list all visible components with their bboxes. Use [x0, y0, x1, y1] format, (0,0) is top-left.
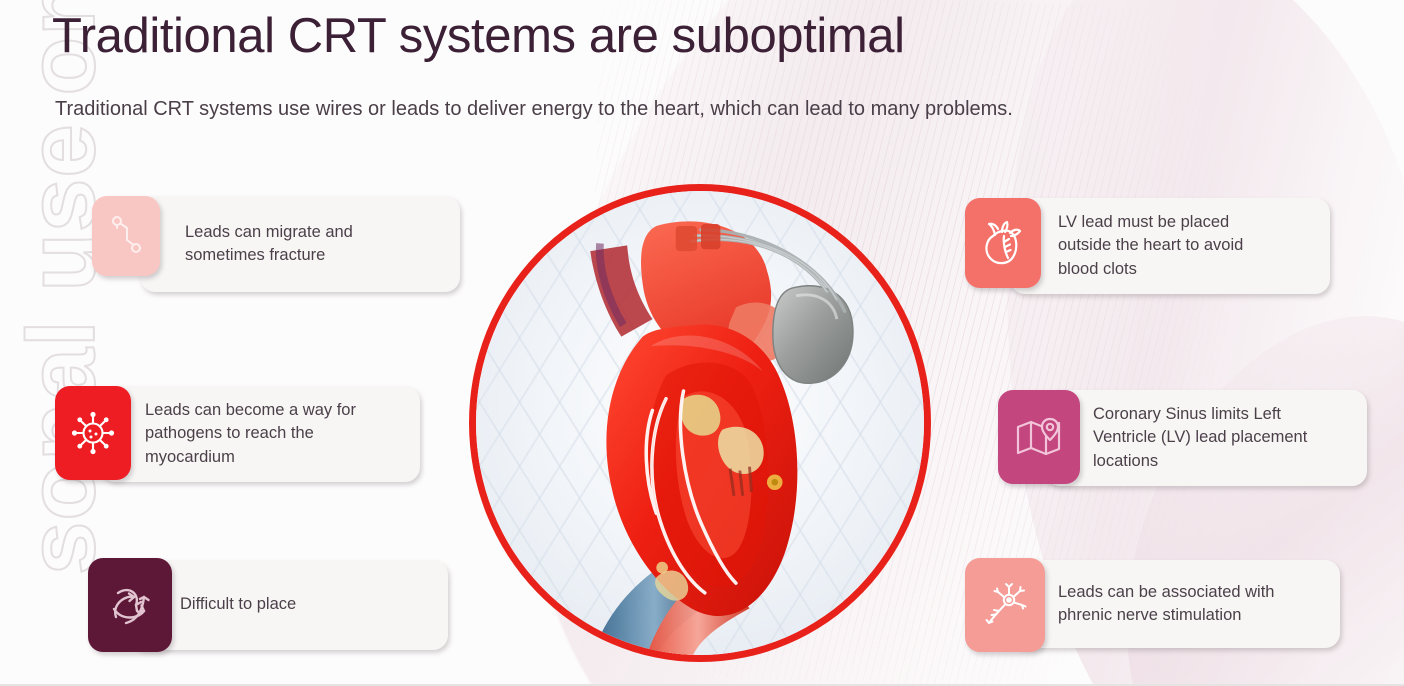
neuron-icon: [980, 580, 1030, 630]
card-difficult-to-place-text: Difficult to place: [180, 593, 296, 616]
card-difficult-to-place[interactable]: Difficult to place: [130, 560, 448, 650]
heart-illustration: [476, 191, 924, 655]
card-coronary-sinus[interactable]: Coronary Sinus limits Left Ventricle (LV…: [1045, 390, 1367, 486]
watermark-personal-use-only: sonal use only: [7, 0, 117, 575]
slide-root: sonal use only Traditional CRT systems a…: [0, 0, 1404, 686]
virus-icon-tile[interactable]: [55, 386, 131, 480]
lead-wire-icon-tile[interactable]: [92, 196, 160, 276]
card-lv-lead-placement[interactable]: LV lead must be placed outside the heart…: [1010, 198, 1330, 294]
card-pathogens-text: Leads can become a way for pathogens to …: [145, 399, 356, 469]
crossing-arrows-icon: [104, 579, 156, 631]
virus-icon: [67, 407, 119, 459]
card-phrenic-nerve-text: Leads can be associated with phrenic ner…: [1058, 581, 1274, 628]
neuron-icon-tile[interactable]: [965, 558, 1045, 652]
card-coronary-sinus-text: Coronary Sinus limits Left Ventricle (LV…: [1093, 403, 1307, 473]
heart-with-crt-device-photo: [469, 184, 931, 662]
map-pin-icon-tile[interactable]: [998, 390, 1080, 484]
crossing-arrows-icon-tile[interactable]: [88, 558, 172, 652]
card-pathogens[interactable]: Leads can become a way for pathogens to …: [100, 386, 420, 482]
card-leads-migrate[interactable]: Leads can migrate and sometimes fracture: [140, 196, 460, 292]
map-pin-icon: [1014, 415, 1064, 459]
anatomical-heart-icon: [979, 218, 1027, 268]
page-subtitle: Traditional CRT systems use wires or lea…: [55, 98, 1013, 121]
card-leads-migrate-text: Leads can migrate and sometimes fracture: [185, 221, 353, 268]
card-lv-lead-placement-text: LV lead must be placed outside the heart…: [1058, 211, 1243, 281]
page-title: Traditional CRT systems are suboptimal: [52, 8, 905, 64]
anatomical-heart-icon-tile[interactable]: [965, 198, 1041, 288]
card-phrenic-nerve[interactable]: Leads can be associated with phrenic ner…: [1010, 560, 1340, 648]
lead-wire-icon: [109, 214, 143, 258]
